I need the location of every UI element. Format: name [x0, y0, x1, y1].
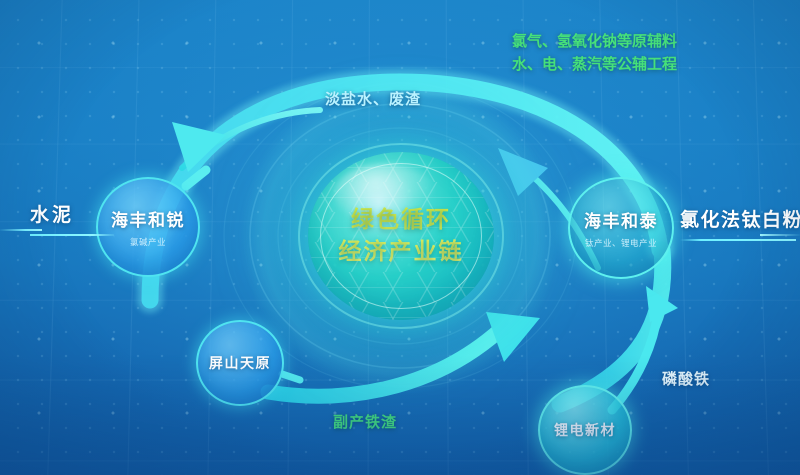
- diagram-canvas: 绿色循环 经济产业链 海丰和锐 氯碱产业 海丰和泰 钛产业、锂电产业 屏山天原 …: [0, 0, 800, 475]
- bottom-shade-overlay: [0, 355, 800, 475]
